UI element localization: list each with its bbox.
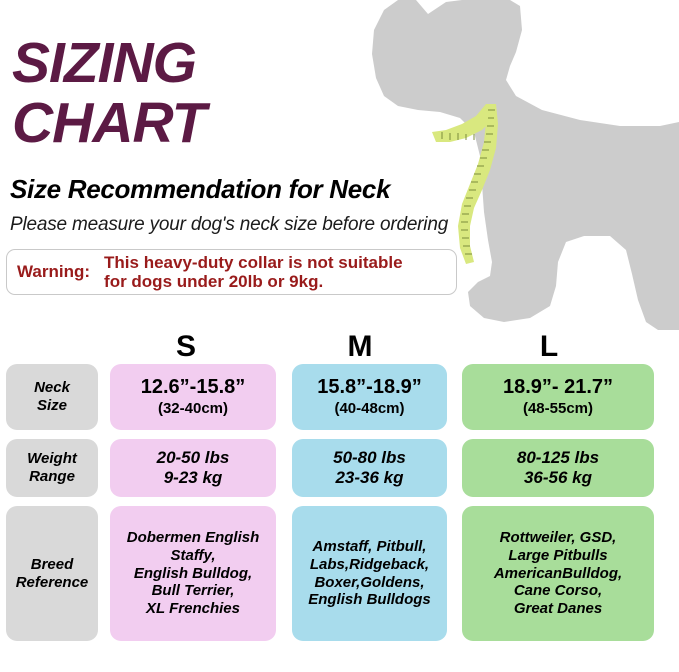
breed-line-4: English Bulldogs <box>308 591 431 609</box>
row-label-line-1: Breed <box>31 556 74 574</box>
weight-s-line-2: 9-23 kg <box>164 468 223 488</box>
breed-line-5: XL Frenchies <box>146 600 240 618</box>
cell-neck-size-s: 12.6”-15.8” (32-40cm) <box>110 364 276 430</box>
neck-size-s-sub: (32-40cm) <box>158 400 228 418</box>
breed-line-5: Great Danes <box>514 600 602 618</box>
row-label-line-1: Neck <box>34 379 70 397</box>
table-row-weight-range: Weight Range 20-50 lbs 9-23 kg 50-80 lbs… <box>0 439 679 497</box>
cell-breed-m: Amstaff, Pitbull,Labs,Ridgeback,Boxer,Go… <box>292 506 447 641</box>
table-row-breed-reference: Breed Reference Dobermen EnglishStaffy,E… <box>0 506 679 641</box>
neck-size-m-main: 15.8”-18.9” <box>317 376 422 400</box>
neck-size-l-sub: (48-55cm) <box>523 400 593 418</box>
breed-line-1: Amstaff, Pitbull, <box>313 538 427 556</box>
breed-line-3: English Bulldog, <box>134 565 252 583</box>
warning-label: Warning: <box>17 262 90 282</box>
neck-size-s-main: 12.6”-15.8” <box>141 376 246 400</box>
row-label-line-1: Weight <box>27 450 77 468</box>
page-title: SIZING CHART <box>12 36 472 150</box>
sizing-table: S M L Neck Size 12.6”-15.8” (32-40cm) 15… <box>0 330 679 650</box>
breed-line-4: Cane Corso, <box>514 582 602 600</box>
size-header-m: M <box>330 330 390 364</box>
cell-neck-size-l: 18.9”- 21.7” (48-55cm) <box>462 364 654 430</box>
breed-line-2: Labs,Ridgeback, <box>310 556 429 574</box>
warning-text-line-1: This heavy-duty collar is not suitable <box>104 253 403 272</box>
warning-box: Warning: This heavy-duty collar is not s… <box>6 249 457 295</box>
breed-line-1: Dobermen English <box>127 529 260 547</box>
breed-line-1: Rottweiler, GSD, <box>500 529 617 547</box>
warning-text: This heavy-duty collar is not suitable f… <box>104 253 403 291</box>
cell-neck-size-m: 15.8”-18.9” (40-48cm) <box>292 364 447 430</box>
cell-weight-range-s: 20-50 lbs 9-23 kg <box>110 439 276 497</box>
size-header-s: S <box>156 330 216 364</box>
row-label-line-2: Reference <box>16 574 89 592</box>
title-line-1: SIZING <box>12 36 472 90</box>
table-row-neck-size: Neck Size 12.6”-15.8” (32-40cm) 15.8”-18… <box>0 364 679 430</box>
neck-size-l-main: 18.9”- 21.7” <box>503 376 613 400</box>
cell-breed-s: Dobermen EnglishStaffy,English Bulldog,B… <box>110 506 276 641</box>
cell-breed-l: Rottweiler, GSD,Large PitbullsAmericanBu… <box>462 506 654 641</box>
row-label-weight-range: Weight Range <box>6 439 98 497</box>
cell-weight-range-m: 50-80 lbs 23-36 kg <box>292 439 447 497</box>
weight-m-line-1: 50-80 lbs <box>333 448 406 468</box>
row-label-breed-reference: Breed Reference <box>6 506 98 641</box>
sizing-chart-page: SIZING CHART Size Recommendation for Nec… <box>0 0 679 672</box>
cell-weight-range-l: 80-125 lbs 36-56 kg <box>462 439 654 497</box>
warning-text-line-2: for dogs under 20lb or 9kg. <box>104 272 323 291</box>
size-header-l: L <box>519 330 579 364</box>
weight-m-line-2: 23-36 kg <box>335 468 403 488</box>
weight-s-line-1: 20-50 lbs <box>157 448 230 468</box>
title-line-2: CHART <box>12 96 472 150</box>
breed-line-2: Staffy, <box>170 547 215 565</box>
neck-size-m-sub: (40-48cm) <box>334 400 404 418</box>
weight-l-line-2: 36-56 kg <box>524 468 592 488</box>
breed-line-4: Bull Terrier, <box>152 582 235 600</box>
breed-line-3: Boxer,Goldens, <box>314 574 424 592</box>
breed-line-3: AmericanBulldog, <box>494 565 622 583</box>
subtitle: Size Recommendation for Neck <box>10 174 390 205</box>
measure-instruction: Please measure your dog's neck size befo… <box>10 214 448 236</box>
row-label-line-2: Range <box>29 468 75 486</box>
row-label-neck-size: Neck Size <box>6 364 98 430</box>
breed-line-2: Large Pitbulls <box>508 547 607 565</box>
size-header-row: S M L <box>0 330 679 364</box>
row-label-line-2: Size <box>37 397 67 415</box>
weight-l-line-1: 80-125 lbs <box>517 448 599 468</box>
